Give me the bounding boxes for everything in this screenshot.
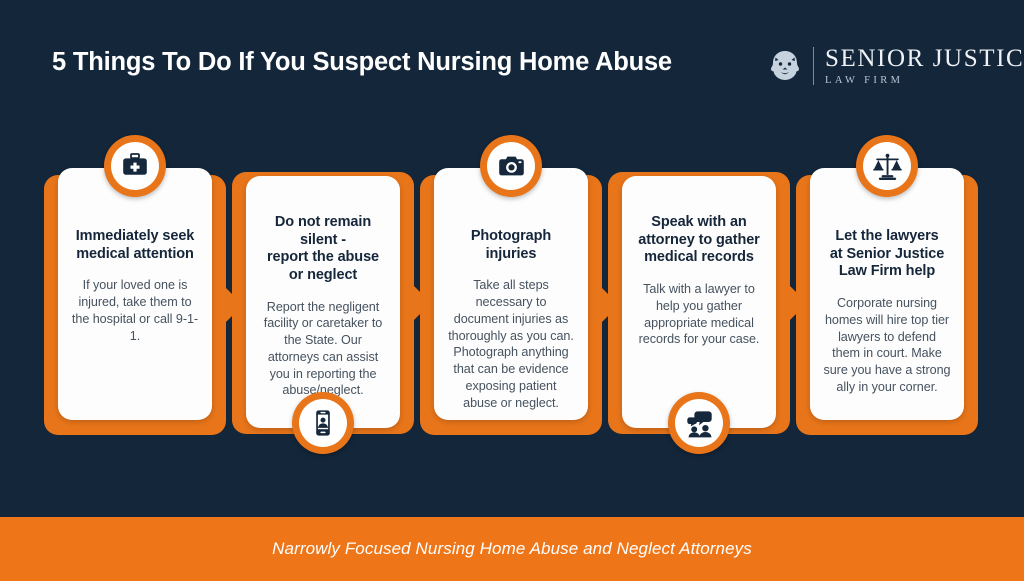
footer-tagline: Narrowly Focused Nursing Home Abuse and … bbox=[272, 539, 752, 559]
step-icon-medallion bbox=[856, 135, 918, 197]
step-5: Let the lawyers at Senior Justice Law Fi… bbox=[0, 0, 1024, 517]
scales-of-justice-icon bbox=[863, 142, 911, 190]
step-title: Let the lawyers at Senior Justice Law Fi… bbox=[830, 228, 944, 281]
footer-banner: Narrowly Focused Nursing Home Abuse and … bbox=[0, 517, 1024, 581]
steps-container: Immediately seek medical attentionIf you… bbox=[0, 0, 1024, 517]
step-card[interactable]: Let the lawyers at Senior Justice Law Fi… bbox=[810, 168, 964, 420]
step-body: Corporate nursing homes will hire top ti… bbox=[823, 295, 951, 395]
